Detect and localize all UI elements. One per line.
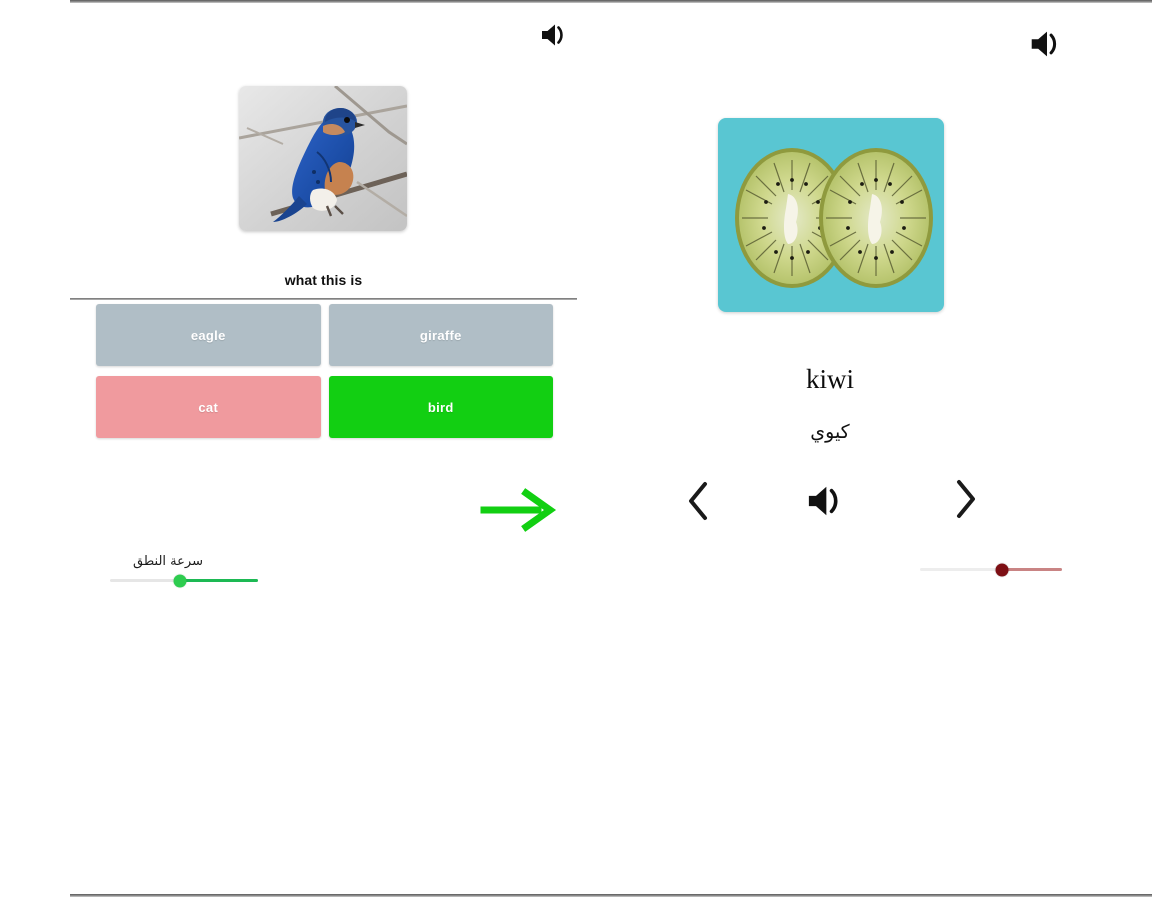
bottom-frame-rule: [70, 894, 1152, 897]
volume-slider-thumb[interactable]: [996, 563, 1009, 576]
volume-slider-fill: [1002, 568, 1062, 571]
speech-rate-label: سرعة النطق: [88, 554, 248, 569]
top-frame-rule: [70, 0, 1152, 3]
next-word-button[interactable]: [948, 476, 982, 522]
speech-rate-slider-fill: [180, 579, 258, 582]
speech-rate-slider[interactable]: [110, 579, 258, 582]
answer-option-1[interactable]: eagle: [96, 304, 321, 366]
volume-slider-group: [920, 568, 1120, 571]
answer-options: eagle giraffe cat bird: [96, 304, 553, 438]
speech-rate-slider-thumb[interactable]: [173, 574, 186, 587]
answer-option-3[interactable]: cat: [96, 376, 321, 438]
speaker-icon: [538, 18, 572, 52]
chevron-left-icon: [682, 478, 716, 524]
quiz-panel: what this is eagle giraffe cat bird سرعة…: [70, 6, 580, 626]
next-question-button[interactable]: [480, 484, 558, 536]
word-card-image: [718, 118, 944, 312]
speaker-icon: [805, 476, 849, 526]
quiz-prompt: what this is: [70, 272, 577, 288]
volume-slider[interactable]: [920, 568, 1062, 571]
quiz-image: [239, 86, 407, 231]
quiz-divider: [70, 298, 577, 300]
speaker-icon: [1027, 24, 1067, 64]
answer-option-4[interactable]: bird: [329, 376, 554, 438]
word-card-speaker-icon-top[interactable]: [1027, 24, 1067, 64]
app-root: what this is eagle giraffe cat bird سرعة…: [0, 0, 1152, 900]
chevron-right-icon: [948, 476, 982, 522]
speech-rate-slider-group: سرعة النطق: [88, 554, 308, 582]
arrow-right-icon: [480, 484, 558, 536]
word-play-button[interactable]: [805, 476, 849, 526]
word-card-panel: kiwi كيوي: [640, 6, 1140, 626]
word-english: kiwi: [640, 364, 1020, 395]
previous-word-button[interactable]: [682, 478, 716, 524]
word-arabic: كيوي: [640, 421, 1020, 443]
answer-option-2[interactable]: giraffe: [329, 304, 554, 366]
quiz-speaker-icon[interactable]: [538, 18, 572, 52]
